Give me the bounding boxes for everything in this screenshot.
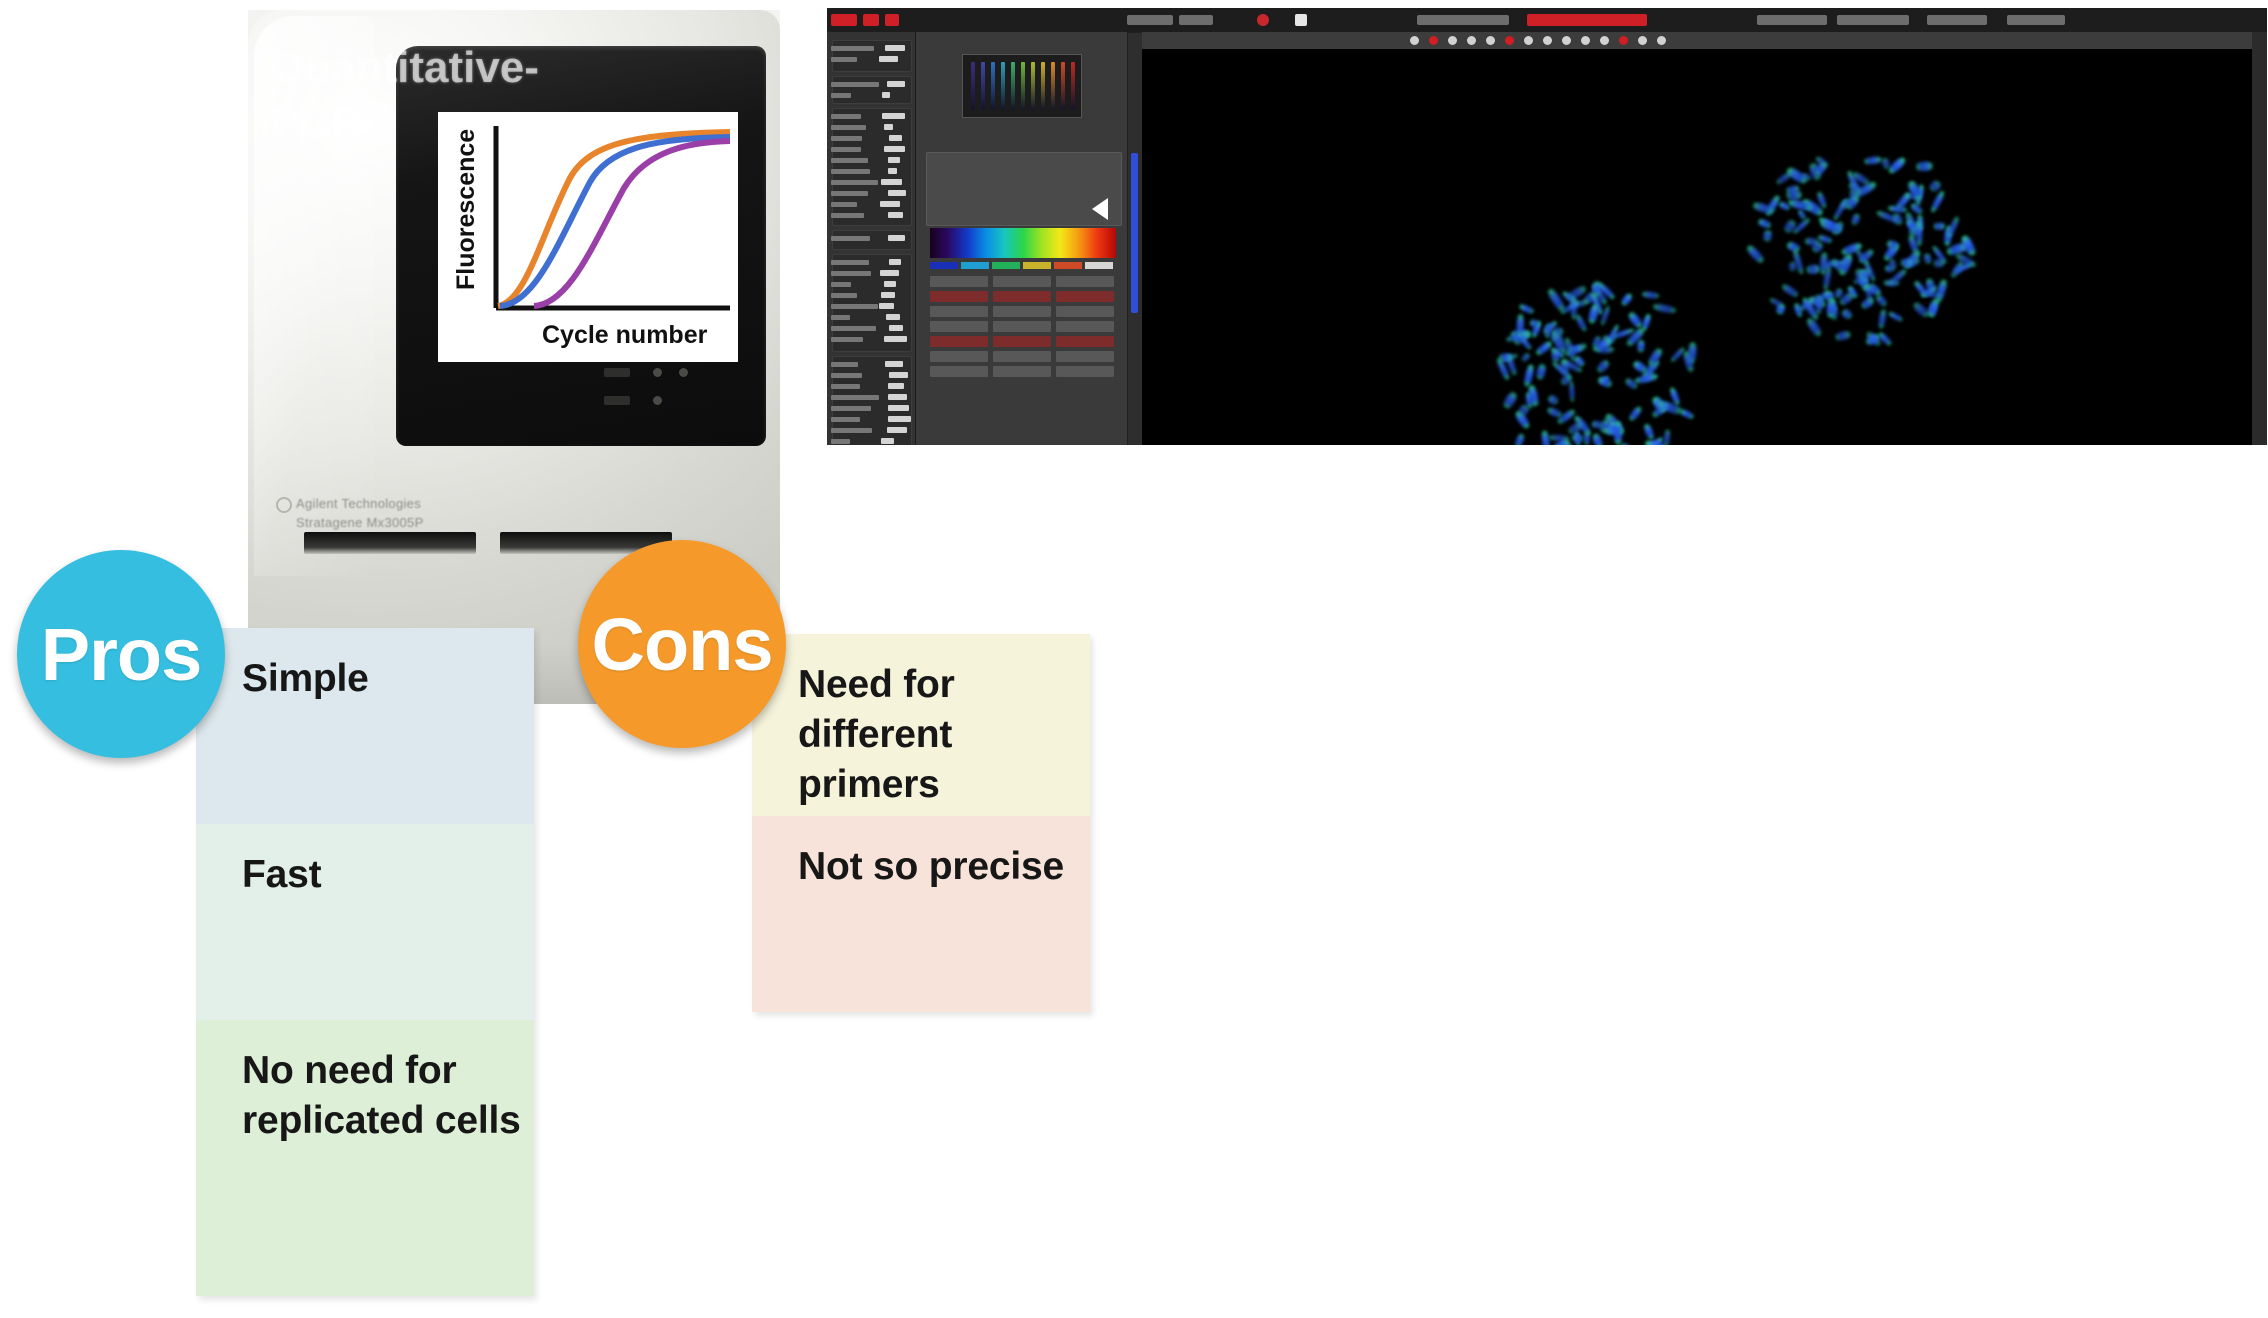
list-cons-qpcr: Need for different primersNot so precise bbox=[752, 634, 1090, 1012]
software-center-panel bbox=[916, 32, 1127, 445]
list-item-label: No need for replicated cells bbox=[242, 1046, 534, 1146]
software-menubar bbox=[827, 8, 2267, 32]
badge-cons-qpcr: Cons bbox=[578, 540, 786, 748]
list-item: Not so precise bbox=[752, 816, 1090, 1012]
instrument-brand-text: Agilent Technologies Stratagene Mx3005P bbox=[296, 494, 496, 532]
list-item-label: Fast bbox=[242, 850, 534, 900]
instrument-indicator-3 bbox=[653, 368, 662, 377]
list-item: Fast bbox=[196, 824, 534, 1020]
badge-pros-qpcr: Pros bbox=[17, 550, 225, 758]
qfish-software-screenshot bbox=[827, 8, 2267, 445]
software-spectrum-bar bbox=[930, 228, 1116, 258]
instrument-brand-line-2: Stratagene Mx3005P bbox=[296, 513, 496, 532]
instrument-indicator-4 bbox=[653, 396, 662, 405]
list-item-label: Simple bbox=[242, 654, 534, 704]
metaphase-spread-upper bbox=[1702, 122, 2002, 372]
instrument-highlight bbox=[254, 16, 374, 576]
list-pros-qpcr: SimpleFastNo need for replicated cells bbox=[196, 628, 534, 1296]
software-pointer-arrow bbox=[1092, 198, 1108, 220]
software-image-viewport bbox=[1142, 32, 2252, 445]
instrument-indicator-2 bbox=[604, 396, 630, 405]
instrument-slot-left bbox=[304, 532, 476, 554]
list-item: Simple bbox=[196, 628, 534, 824]
instrument-indicator-1 bbox=[604, 368, 630, 377]
plot-y-axis-label: Fluorescence bbox=[452, 129, 480, 290]
plot-x-axis-label: Cycle number bbox=[542, 321, 708, 349]
software-left-controls-panel bbox=[827, 32, 916, 445]
software-channel-sliders bbox=[962, 54, 1082, 118]
software-channel-swatches bbox=[930, 262, 1116, 269]
instrument-indicator-5 bbox=[679, 368, 688, 377]
amplification-plot-svg: Fluorescence Cycle number bbox=[438, 112, 738, 362]
metaphase-spread-lower bbox=[1442, 282, 1742, 445]
software-image-toolbar bbox=[1142, 32, 2252, 49]
panel-qfish: Pros Cons High precisionReal telomere le… bbox=[1134, 0, 2268, 1318]
list-item: No need for replicated cells bbox=[196, 1020, 534, 1296]
instrument-logo bbox=[276, 497, 292, 513]
list-item-label: Need for different primers bbox=[798, 660, 1090, 810]
instrument-display: Fluorescence Cycle number bbox=[396, 46, 766, 446]
amplification-plot: Fluorescence Cycle number bbox=[438, 112, 738, 362]
list-item-label: Not so precise bbox=[798, 842, 1090, 892]
software-scrollbar[interactable] bbox=[1127, 32, 1143, 445]
list-item: Need for different primers bbox=[752, 634, 1090, 816]
instrument-brand-line-1: Agilent Technologies bbox=[296, 494, 496, 513]
